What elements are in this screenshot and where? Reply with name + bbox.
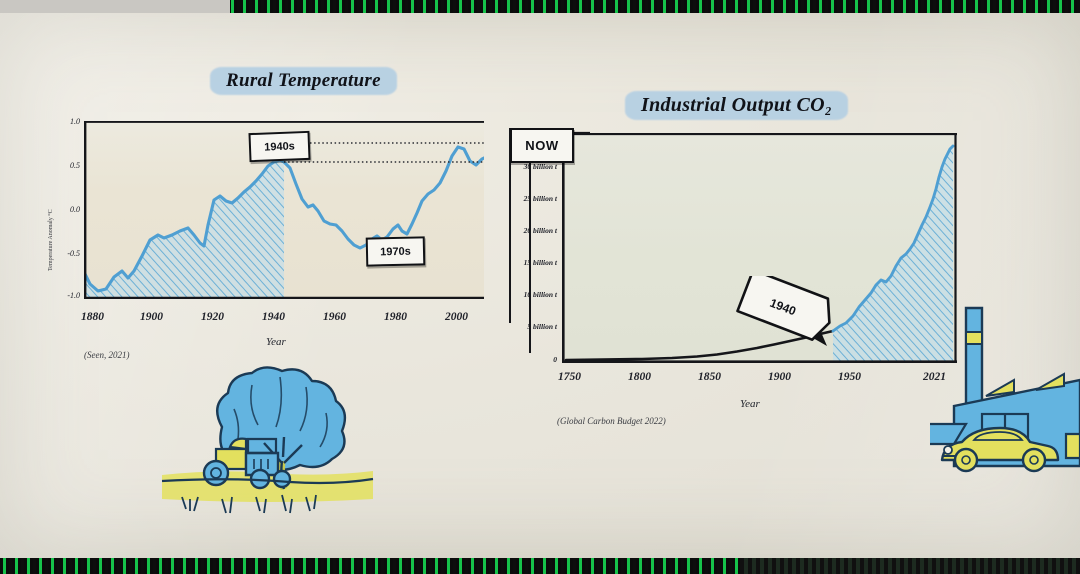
callout-1940s-label: 1940s — [264, 140, 295, 153]
callout-now[interactable]: NOW — [510, 128, 574, 163]
smokestack-band-icon — [966, 332, 982, 344]
callout-1970s-label: 1970s — [380, 245, 411, 258]
factory-illustration — [930, 298, 1080, 488]
left-source-citation: (Seen, 2021) — [84, 350, 129, 360]
right-ytick-15: 15 billion t — [505, 258, 557, 267]
right-xtick-1950: 1950 — [838, 371, 861, 383]
farm-illustration — [160, 365, 375, 540]
right-xtick-1800: 1800 — [628, 371, 651, 383]
right-ytick-10: 10 billion t — [505, 290, 557, 299]
right-xtick-1750: 1750 — [558, 371, 581, 383]
right-ytick-20: 20 billion t — [505, 226, 557, 235]
right-xtick-1850: 1850 — [698, 371, 721, 383]
callout-now-label: NOW — [525, 138, 559, 153]
left-ytick-5: -1.0 — [58, 291, 80, 300]
smokestack-icon — [966, 308, 982, 410]
left-panel-title: Rural Temperature — [210, 65, 397, 98]
left-xtick-1900: 1900 — [140, 311, 163, 323]
right-ytick-30: 30 billion t — [505, 162, 557, 171]
left-ytick-4: -0.5 — [58, 249, 80, 258]
right-ytick-0: 0 — [542, 355, 557, 364]
callout-1940s[interactable]: 1940s — [248, 131, 310, 162]
infographic-poster: Rural Temperature Industrial Output CO₂ — [0, 0, 1080, 574]
right-panel-title-text: Industrial Output CO₂ — [625, 89, 848, 123]
left-xtick-2000: 2000 — [445, 311, 468, 323]
left-x-axis-title: Year — [266, 336, 286, 348]
left-xtick-1960: 1960 — [323, 311, 346, 323]
top-chroma-band — [0, 0, 1080, 13]
right-panel-title: Industrial Output CO₂ — [625, 89, 848, 123]
left-y-axis-title: Temperature Anomaly °C — [48, 209, 54, 271]
left-ytick-1: 1.0 — [58, 117, 80, 126]
callout-1940-right[interactable]: 1940 — [735, 276, 845, 354]
bottom-chroma-band — [0, 558, 1080, 574]
left-ytick-2: 0.5 — [58, 161, 80, 170]
left-xtick-1880: 1880 — [81, 311, 104, 323]
left-xtick-1940: 1940 — [262, 311, 285, 323]
left-xtick-1920: 1920 — [201, 311, 224, 323]
right-source-citation: (Global Carbon Budget 2022) — [557, 416, 666, 426]
paper-sheet: Rural Temperature Industrial Output CO₂ — [0, 13, 1080, 558]
callout-1970s[interactable]: 1970s — [366, 236, 426, 266]
left-panel-title-text: Rural Temperature — [210, 65, 397, 98]
right-x-axis-title: Year — [740, 398, 760, 410]
crate-icon — [1066, 434, 1080, 458]
left-ytick-3: 0.0 — [58, 205, 80, 214]
right-xtick-1900: 1900 — [768, 371, 791, 383]
left-xtick-1980: 1980 — [384, 311, 407, 323]
right-ytick-5: 5 billion t — [505, 322, 557, 331]
right-ytick-25: 25 billion t — [505, 194, 557, 203]
